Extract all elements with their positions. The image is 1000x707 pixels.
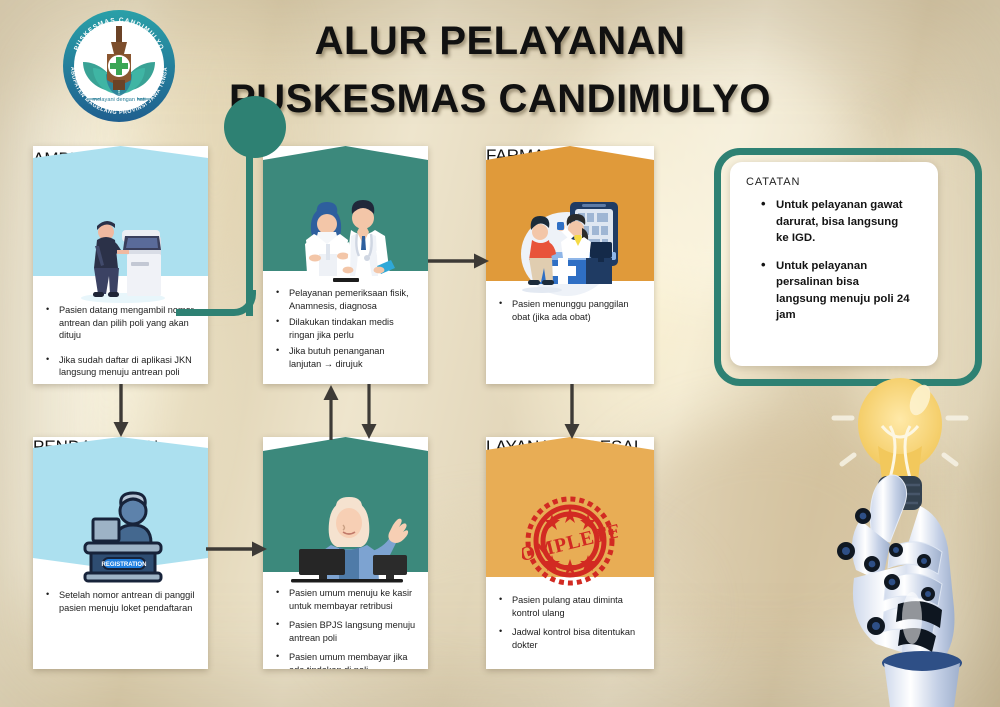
bullet-item: Pasien BPJS langsung menuju antrean poli xyxy=(289,619,416,644)
card-farmasi[interactable]: FARMASI xyxy=(486,146,654,384)
card-body: Pasien menunggu panggilan obat (jika ada… xyxy=(486,298,654,332)
card-layanan-selesai[interactable]: LAYANAN SELESAI COMPLETE xyxy=(486,437,654,669)
kiosk-queue-ticket-illustration xyxy=(75,206,171,304)
puskesmas-logo: PUSKESMAS CANDIMULYO KABUPATEN MAGELANG … xyxy=(61,8,177,124)
catatan-card: CATATAN Untuk pelayanan gawat darurat, b… xyxy=(730,162,938,366)
bullet-item: Pasien pulang atau diminta kontrol ulang xyxy=(512,594,642,619)
arrow-poli-to-kasir xyxy=(360,384,378,440)
infographic-canvas: PUSKESMAS CANDIMULYO KABUPATEN MAGELANG … xyxy=(0,0,1000,707)
card-body: Pelayanan pemeriksaan fisik, Anamnesis, … xyxy=(263,287,428,375)
card-poli[interactable]: POLI xyxy=(263,146,428,384)
catatan-dot xyxy=(224,96,286,158)
catatan-bullets: Untuk pelayanan gawat darurat, bisa lang… xyxy=(746,197,922,324)
logo-motto: melayani dengan hati xyxy=(92,97,145,103)
card-body: Pasien datang mengambil nomor antrean da… xyxy=(33,304,208,384)
catatan-label: CATATAN xyxy=(746,176,922,188)
card-pendaftaran[interactable]: PENDAFTARAN REGISTRATION Setel xyxy=(33,437,208,669)
bullet-item: Untuk pelayanan persalinan bisa langsung… xyxy=(776,258,910,324)
registration-desk-illustration: REGISTRATION xyxy=(71,491,173,583)
bullet-item: Pasien umum menuju ke kasir untuk membay… xyxy=(289,587,416,612)
registration-button-label: REGISTRATION xyxy=(102,562,147,568)
card-bullets: Pasien umum menuju ke kasir untuk membay… xyxy=(263,587,428,669)
bullet-item: Dilakukan tindakan medis ringan jika per… xyxy=(289,316,416,341)
catatan-connector-elbow xyxy=(176,290,256,316)
arrow-poli-to-farmasi xyxy=(428,252,490,270)
arrow-kasir-to-poli xyxy=(322,384,340,440)
bullet-item: Jika butuh penanganan lanjutan → dirujuk xyxy=(289,345,416,370)
bullet-item: Untuk pelayanan gawat darurat, bisa lang… xyxy=(776,197,910,247)
page-title-line-1: ALUR PELAYANAN xyxy=(190,12,810,70)
completed-stamp-illustration: COMPLETED xyxy=(522,493,618,589)
card-kasir[interactable]: KASIR xyxy=(263,437,428,669)
card-bullets: Pasien menunggu panggilan obat (jika ada… xyxy=(486,298,654,323)
bullet-item: Pasien menunggu panggilan obat (jika ada… xyxy=(512,298,642,323)
cashier-waving-illustration xyxy=(281,493,413,583)
bullet-item: Jadwal kontrol bisa ditentukan dokter xyxy=(512,626,642,651)
bullet-item: Jika sudah daftar di aplikasi JKN langsu… xyxy=(59,354,196,379)
arrow-ambil-to-pendaftaran xyxy=(112,384,130,438)
card-body: Pasien umum menuju ke kasir untuk membay… xyxy=(263,587,428,669)
arrow-farmasi-to-layanan-selesai xyxy=(563,384,581,440)
two-doctors-illustration xyxy=(293,194,401,286)
card-bullets: Pelayanan pemeriksaan fisik, Anamnesis, … xyxy=(263,287,428,371)
bullet-item: Pasien umum membayar jika ada tindakan d… xyxy=(289,651,416,669)
card-body: Pasien pulang atau diminta kontrol ulang… xyxy=(486,594,654,658)
page-title: ALUR PELAYANAN PUSKESMAS CANDIMULYO xyxy=(190,12,810,128)
card-bullets: Setelah nomor antrean di panggil pasien … xyxy=(33,589,208,614)
card-bullets: Pasien pulang atau diminta kontrol ulang… xyxy=(486,594,654,651)
card-body: Setelah nomor antrean di panggil pasien … xyxy=(33,589,208,623)
robot-hand-holding-lightbulb xyxy=(812,368,1000,707)
arrow-pendaftaran-to-kasir xyxy=(206,540,268,558)
pharmacy-counter-illustration xyxy=(512,194,632,299)
bullet-item: Pelayanan pemeriksaan fisik, Anamnesis, … xyxy=(289,287,416,312)
catatan-panel[interactable]: CATATAN Untuk pelayanan gawat darurat, b… xyxy=(714,148,982,386)
card-ambil-nomor-antrean[interactable]: AMBIL NOMOR ANTREAN xyxy=(33,146,208,384)
bullet-item: Setelah nomor antrean di panggil pasien … xyxy=(59,589,196,614)
